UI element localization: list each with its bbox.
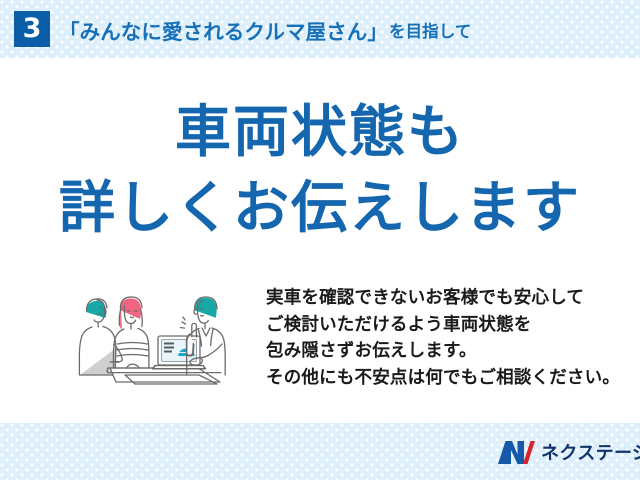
promotional-banner: 3 「みんなに愛されるクルマ屋さん」 を目指して 車両状態も 詳しくお伝えします — [0, 0, 640, 480]
body-copy-line-2: ご検討いただけるよう車両状態を — [266, 312, 616, 339]
section-number-badge: 3 — [14, 11, 50, 47]
header-title: 「みんなに愛されるクルマ屋さん」 を目指して — [59, 12, 472, 48]
body-copy-line-4: その他にも不安点は何でもご相談ください。 — [266, 365, 616, 392]
consultation-illustration — [62, 278, 252, 390]
header-title-quoted: 「みんなに愛されるクルマ屋さん」 — [59, 15, 388, 45]
header-title-suffix: を目指して — [388, 18, 472, 42]
nextage-n-logo-icon — [497, 440, 535, 465]
body-copy-line-1: 実車を確認できないお客様でも安心して — [266, 285, 616, 312]
brand-logo: ネクステージ — [497, 438, 640, 466]
body-copy: 実車を確認できないお客様でも安心して ご検討いただけるよう車両状態を 包み隠さず… — [266, 285, 616, 391]
hero-heading-line-2: 詳しくお伝えします — [0, 178, 640, 240]
body-copy-line-3: 包み隠さずお伝えします。 — [266, 338, 616, 365]
hero-heading-line-1: 車両状態も — [0, 102, 640, 164]
brand-name: ネクステージ — [541, 439, 640, 465]
